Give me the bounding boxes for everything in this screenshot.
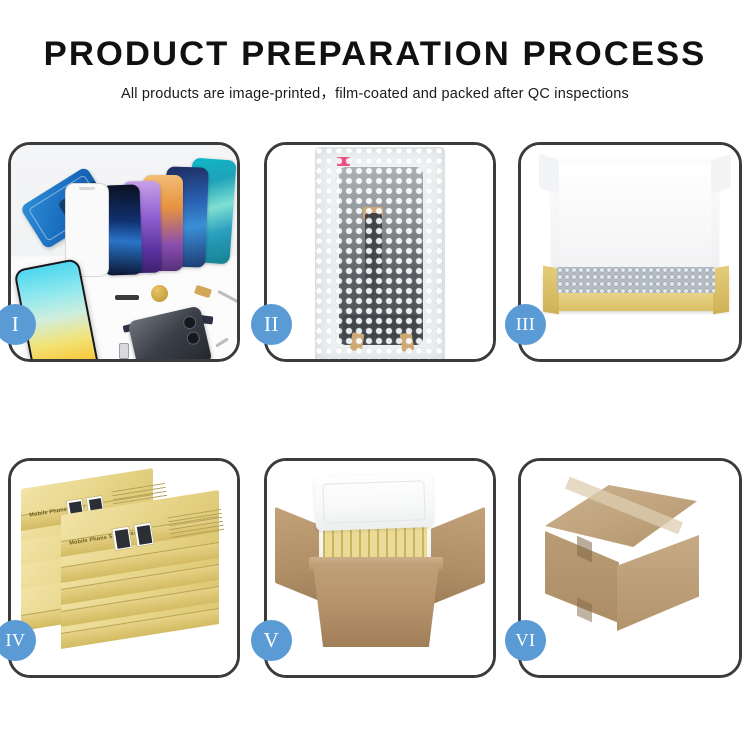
screwdriver-tool (218, 290, 237, 303)
phone-back-housing (127, 305, 212, 359)
stacked-boxes-photo: Mobile Phone Spare Parts (11, 461, 237, 675)
step-badge-3: III (505, 304, 546, 345)
small-component-3 (119, 343, 129, 359)
step-2-image (267, 145, 493, 359)
bubble-wrapped-item (557, 267, 715, 293)
product-preparation-page: PRODUCT PREPARATION PROCESS All products… (0, 0, 750, 750)
step-badge-5: V (251, 620, 292, 661)
step-5-image (267, 461, 493, 675)
step-panel-6: VI (518, 458, 742, 678)
speaker-coil (151, 285, 168, 302)
foam-lid (314, 473, 434, 531)
step-4-image: Mobile Phone Spare Parts (11, 461, 237, 675)
box-stack: Mobile Phone Spare Parts (15, 479, 231, 665)
step-panel-5: V (264, 458, 496, 678)
page-title: PRODUCT PREPARATION PROCESS (0, 0, 750, 72)
earpiece-mesh (115, 295, 139, 300)
page-subtitle: All products are image-printed，film-coat… (0, 72, 750, 103)
carton-right-face (617, 535, 699, 631)
step-badge-6: VI (505, 620, 546, 661)
step-3-image (521, 145, 739, 359)
step-panel-4: Mobile Phone Spare Parts (8, 458, 240, 678)
process-steps-grid: I (0, 142, 750, 682)
step-6-image (521, 461, 739, 675)
step-panel-2: II (264, 142, 496, 362)
page-header: PRODUCT PREPARATION PROCESS All products… (0, 0, 750, 103)
box-window-4 (133, 522, 154, 548)
sealed-carton-photo (521, 461, 739, 675)
carton-loading-photo (267, 461, 493, 675)
step-1-image (11, 145, 237, 359)
bubble-wrap-bag (315, 147, 445, 359)
tweezers-tool (215, 338, 228, 348)
phone-parts-photo (11, 145, 237, 359)
carton-body (313, 565, 439, 647)
bubble-texture (315, 147, 445, 359)
inner-box-photo (521, 145, 739, 359)
step-badge-2: II (251, 304, 292, 345)
bubble-wrapped-screen-photo (267, 145, 493, 359)
white-box-lid (551, 157, 719, 275)
step-panel-3: III (518, 142, 742, 362)
step-panel-1: I (8, 142, 240, 362)
box-window-3 (111, 526, 132, 552)
carton-top-face (545, 485, 697, 547)
flex-cable-2 (194, 285, 212, 299)
